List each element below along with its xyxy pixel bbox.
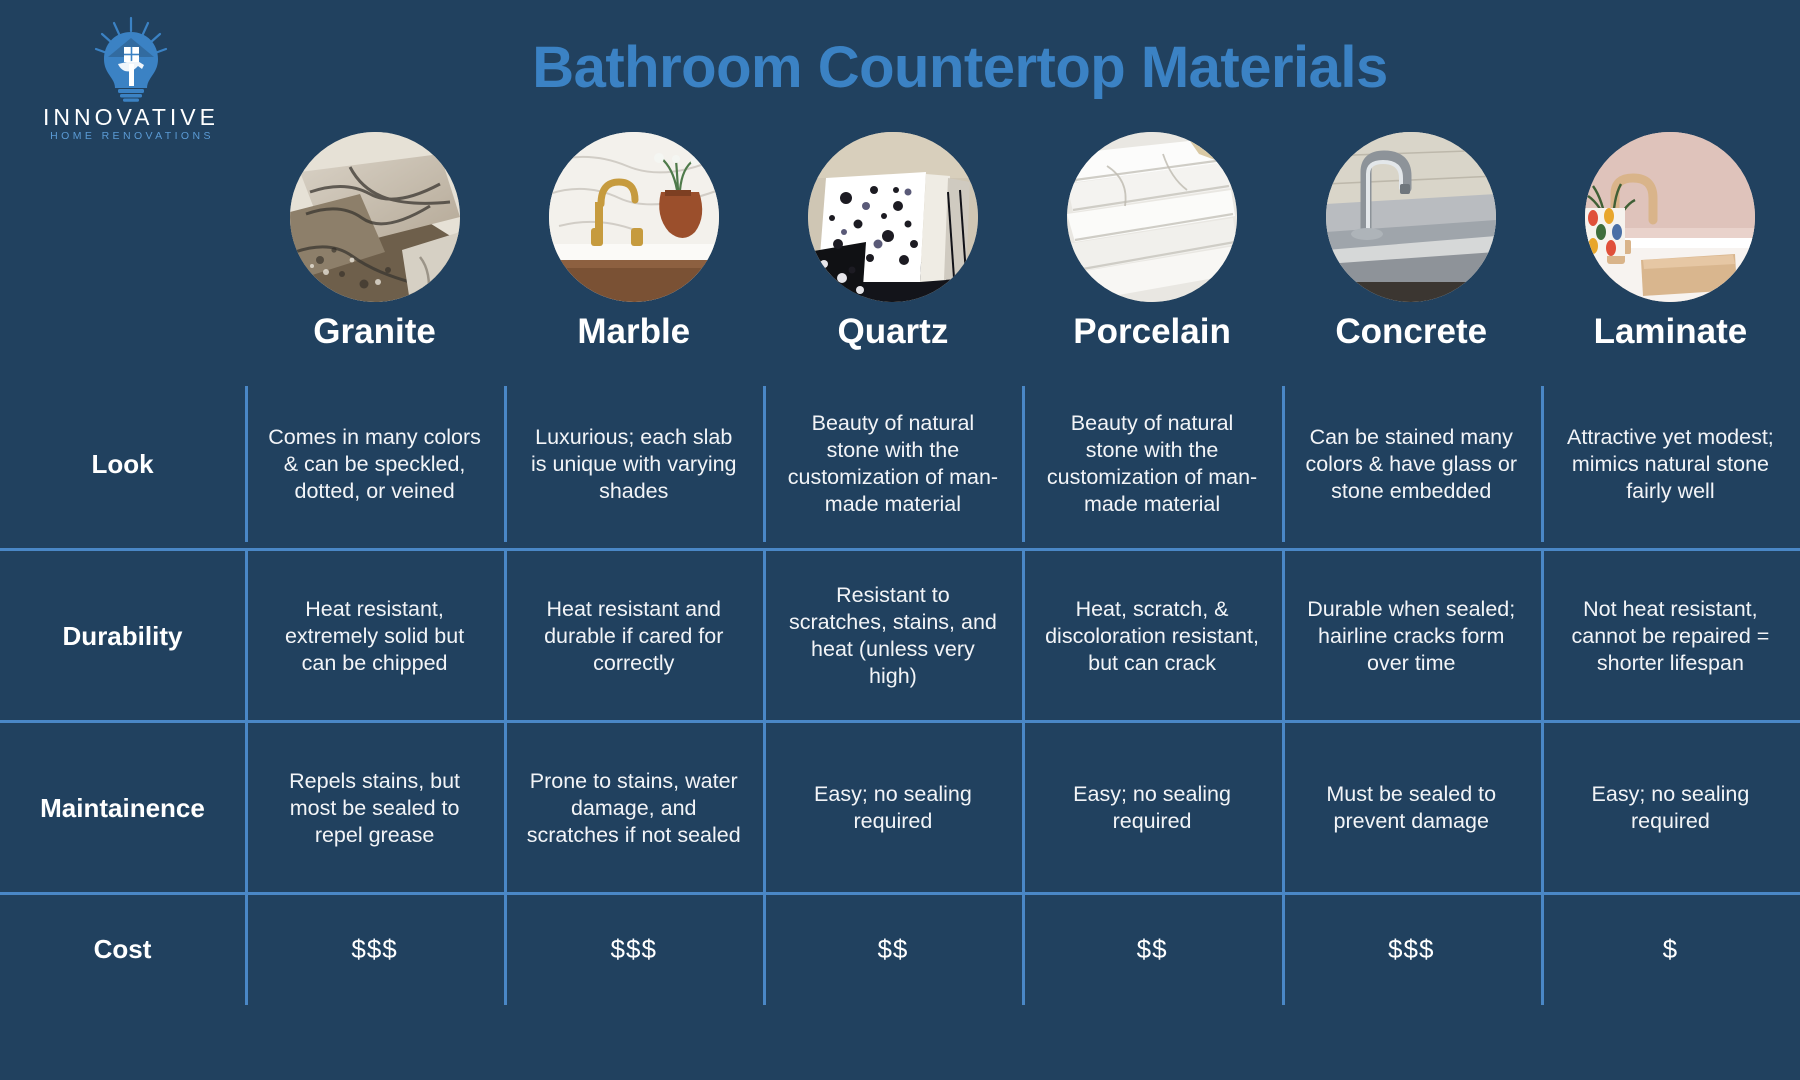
- column-header-laminate: Laminate: [1541, 128, 1800, 378]
- cost-value: $: [1663, 934, 1678, 965]
- cell-granite-look: Comes in many colors & can be speckled, …: [245, 378, 504, 550]
- brand-logo: INNOVATIVE HOME RENOVATIONS: [26, 16, 236, 144]
- granite-thumbnail: [290, 132, 460, 302]
- cell-text: Easy; no sealing required: [785, 781, 1000, 835]
- cell-marble-durability: Heat resistant and durable if cared for …: [504, 550, 763, 722]
- cell-concrete-durability: Durable when sealed; hairline cracks for…: [1282, 550, 1541, 722]
- cell-text: Beauty of natural stone with the customi…: [1045, 410, 1260, 518]
- cell-text: Easy; no sealing required: [1045, 781, 1260, 835]
- marble-thumbnail: [549, 132, 719, 302]
- concrete-thumbnail: [1326, 132, 1496, 302]
- cell-porcelain-look: Beauty of natural stone with the customi…: [1022, 378, 1281, 550]
- cell-porcelain-maintainence: Easy; no sealing required: [1022, 722, 1281, 894]
- laminate-thumbnail: [1585, 132, 1755, 302]
- quartz-thumbnail: [808, 132, 978, 302]
- cell-text: Heat resistant, extremely solid but can …: [267, 596, 482, 677]
- cell-text: Heat resistant and durable if cared for …: [526, 596, 741, 677]
- page-title: Bathroom Countertop Materials: [260, 34, 1660, 101]
- table-corner-empty: [0, 128, 245, 378]
- cell-quartz-cost: $$: [763, 894, 1022, 1005]
- cost-value: $$$: [1388, 934, 1434, 965]
- row-label-durability: Durability: [0, 550, 245, 722]
- cost-value: $$$: [611, 934, 657, 965]
- column-header-quartz: Quartz: [763, 128, 1022, 378]
- cell-laminate-look: Attractive yet modest; mimics natural st…: [1541, 378, 1800, 550]
- cell-text: Heat, scratch, & discoloration resistant…: [1045, 596, 1260, 677]
- cell-laminate-cost: $: [1541, 894, 1800, 1005]
- cell-text: Beauty of natural stone with the customi…: [785, 410, 1000, 518]
- column-header-porcelain: Porcelain: [1022, 128, 1281, 378]
- cost-value: $$: [1137, 934, 1168, 965]
- row-label-cost: Cost: [0, 894, 245, 1005]
- cell-porcelain-durability: Heat, scratch, & discoloration resistant…: [1022, 550, 1281, 722]
- porcelain-thumbnail: [1067, 132, 1237, 302]
- material-name: Granite: [313, 312, 436, 352]
- column-header-concrete: Concrete: [1282, 128, 1541, 378]
- material-name: Porcelain: [1073, 312, 1231, 352]
- cell-granite-durability: Heat resistant, extremely solid but can …: [245, 550, 504, 722]
- column-header-granite: Granite: [245, 128, 504, 378]
- cell-laminate-durability: Not heat resistant, cannot be repaired =…: [1541, 550, 1800, 722]
- cell-laminate-maintainence: Easy; no sealing required: [1541, 722, 1800, 894]
- cell-granite-cost: $$$: [245, 894, 504, 1005]
- cell-text: Attractive yet modest; mimics natural st…: [1563, 424, 1778, 505]
- cell-concrete-cost: $$$: [1282, 894, 1541, 1005]
- cell-marble-look: Luxurious; each slab is unique with vary…: [504, 378, 763, 550]
- comparison-table: Granite: [0, 128, 1800, 1023]
- cell-text: Not heat resistant, cannot be repaired =…: [1563, 596, 1778, 677]
- cell-concrete-maintainence: Must be sealed to prevent damage: [1282, 722, 1541, 894]
- cell-marble-cost: $$$: [504, 894, 763, 1005]
- cell-quartz-maintainence: Easy; no sealing required: [763, 722, 1022, 894]
- cell-text: Repels stains, but most be sealed to rep…: [267, 768, 482, 849]
- cell-text: Luxurious; each slab is unique with vary…: [526, 424, 741, 505]
- material-name: Quartz: [837, 312, 948, 352]
- infographic-page: INNOVATIVE HOME RENOVATIONS Bathroom Cou…: [0, 0, 1800, 1080]
- lightbulb-house-hammer-icon: [88, 16, 174, 102]
- material-name: Concrete: [1335, 312, 1487, 352]
- brand-wordmark: INNOVATIVE: [26, 104, 236, 130]
- cell-concrete-look: Can be stained many colors & have glass …: [1282, 378, 1541, 550]
- cost-value: $$$: [351, 934, 397, 965]
- row-label-look: Look: [0, 378, 245, 550]
- cell-text: Easy; no sealing required: [1563, 781, 1778, 835]
- cell-quartz-look: Beauty of natural stone with the customi…: [763, 378, 1022, 550]
- cost-value: $$: [877, 934, 908, 965]
- cell-text: Prone to stains, water damage, and scrat…: [526, 768, 741, 849]
- cell-porcelain-cost: $$: [1022, 894, 1281, 1005]
- cell-marble-maintainence: Prone to stains, water damage, and scrat…: [504, 722, 763, 894]
- material-name: Marble: [577, 312, 690, 352]
- column-header-marble: Marble: [504, 128, 763, 378]
- cell-quartz-durability: Resistant to scratches, stains, and heat…: [763, 550, 1022, 722]
- cell-granite-maintainence: Repels stains, but most be sealed to rep…: [245, 722, 504, 894]
- material-name: Laminate: [1594, 312, 1748, 352]
- cell-text: Resistant to scratches, stains, and heat…: [785, 582, 1000, 690]
- cell-text: Can be stained many colors & have glass …: [1304, 424, 1519, 505]
- cell-text: Comes in many colors & can be speckled, …: [267, 424, 482, 505]
- row-label-maintainence: Maintainence: [0, 722, 245, 894]
- cell-text: Must be sealed to prevent damage: [1304, 781, 1519, 835]
- cell-text: Durable when sealed; hairline cracks for…: [1304, 596, 1519, 677]
